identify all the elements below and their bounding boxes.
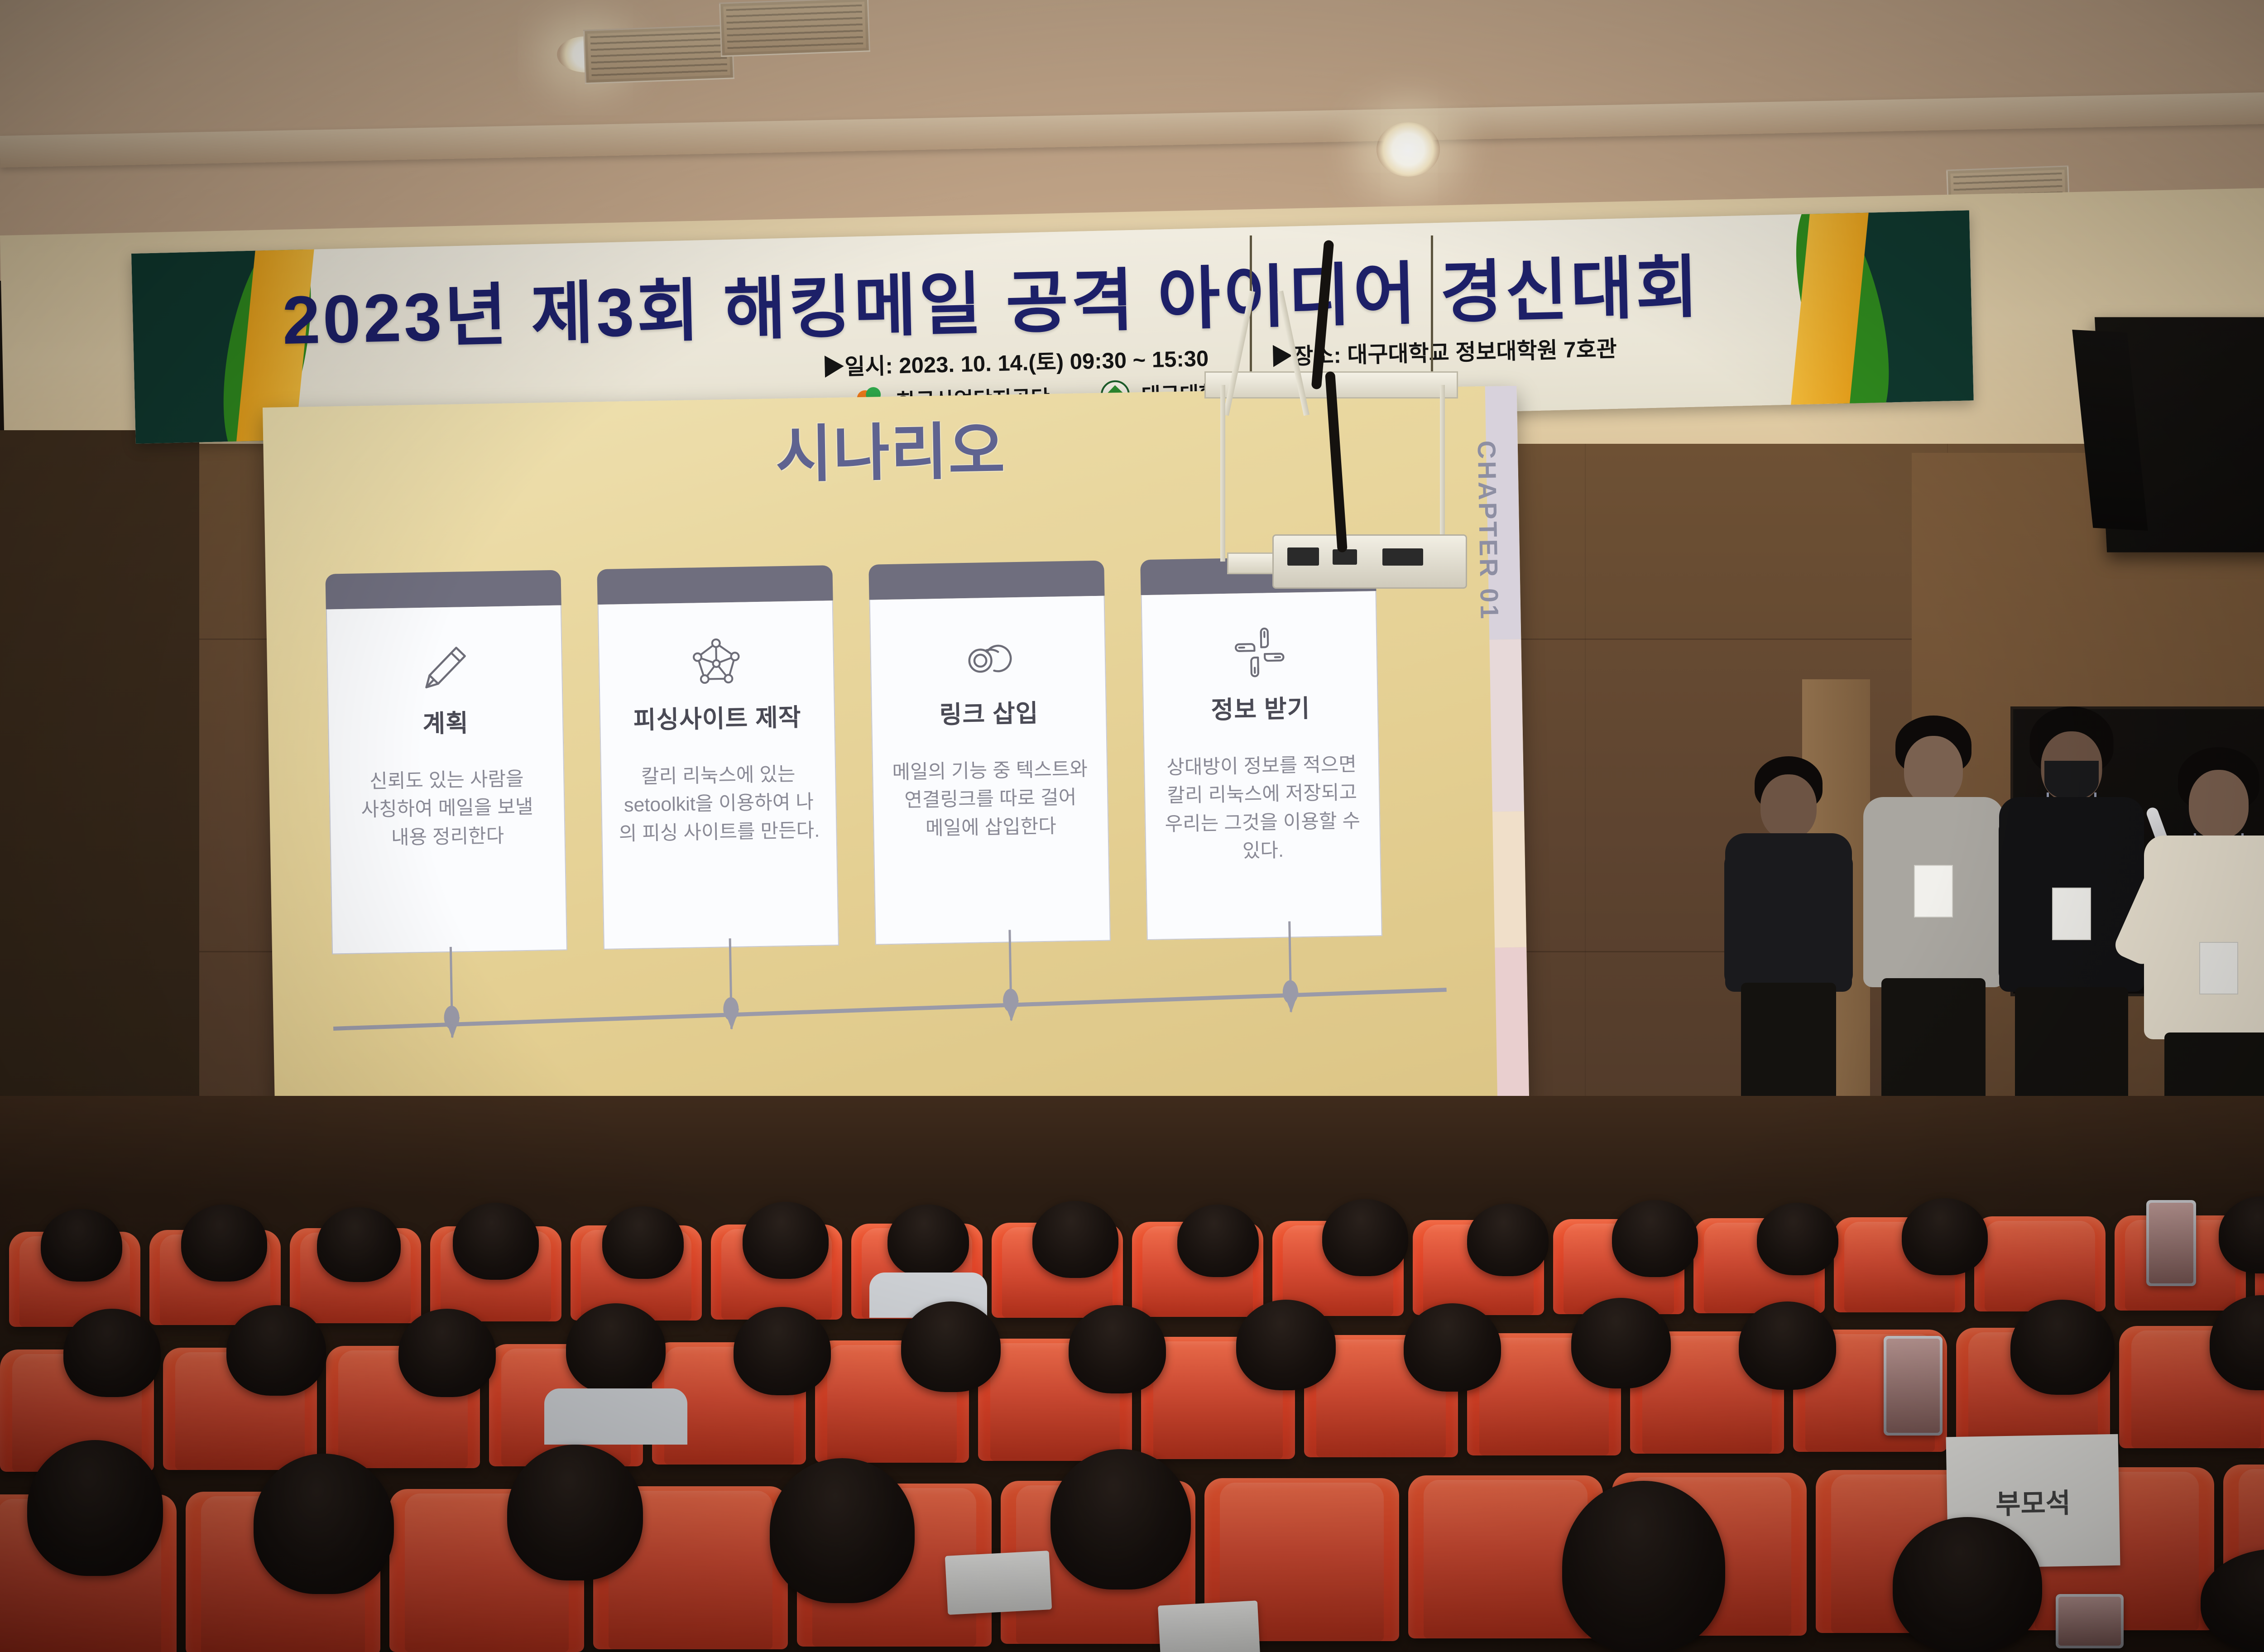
audience-head xyxy=(901,1301,1001,1392)
projector-lift xyxy=(1195,235,1467,607)
audience-head xyxy=(226,1305,326,1396)
card-header-bar xyxy=(597,565,833,605)
audience-head xyxy=(566,1303,666,1394)
audience-head xyxy=(181,1205,267,1282)
projector-cable xyxy=(1311,240,1334,390)
audience-head xyxy=(1739,1301,1836,1390)
audience-head xyxy=(1612,1200,1698,1277)
ceiling-projector xyxy=(1272,534,1467,589)
slide-card: 링크 삽입 메일의 기능 중 텍스트와 연결링크를 따로 걸어 메일에 삽입한다 xyxy=(868,561,1111,945)
card-title: 피싱사이트 제작 xyxy=(615,697,819,736)
ceiling-air-vent xyxy=(583,24,734,84)
audience-head xyxy=(734,1307,831,1395)
pencil-icon xyxy=(343,631,547,702)
audience-head xyxy=(1177,1205,1259,1277)
audience-seating: 부모석 xyxy=(0,1096,2264,1652)
card-body: 링크 삽입 메일의 기능 중 텍스트와 연결링크를 따로 걸어 메일에 삽입한다 xyxy=(869,596,1111,945)
banner-date: ▶일시: 2023. 10. 14.(토) 09:30 ~ 15:30 xyxy=(822,346,1209,380)
laptop xyxy=(945,1551,1052,1615)
name-badge xyxy=(2199,942,2238,994)
auditorium-seat xyxy=(1974,1216,2106,1311)
timeline-node xyxy=(723,997,739,1021)
card-body: 피싱사이트 제작 칼리 리눅스에 있는 setoolkit을 이용하여 나 의 … xyxy=(598,600,839,950)
four-hands-icon xyxy=(1157,617,1362,688)
card-header-bar xyxy=(325,570,561,610)
timeline-arrow xyxy=(450,947,453,1037)
name-badge xyxy=(1914,865,1953,917)
audience-head xyxy=(770,1458,915,1603)
network-star-icon xyxy=(614,626,819,698)
audience-head xyxy=(63,1309,161,1397)
ceiling-air-vent xyxy=(719,0,870,57)
card-title: 계획 xyxy=(344,701,547,741)
card-description: 신뢰도 있는 사람을 사칭하여 메일을 보낼 내용 정리한다 xyxy=(345,764,549,853)
audience-head xyxy=(743,1202,829,1279)
audience-head xyxy=(1571,1298,1671,1388)
linked-circles-icon xyxy=(886,621,1090,693)
audience-head xyxy=(2010,1300,2115,1395)
card-body: 계획 신뢰도 있는 사람을 사칭하여 메일을 보낼 내용 정리한다 xyxy=(326,605,567,955)
audience-head xyxy=(1050,1449,1191,1590)
slide-card: 계획 신뢰도 있는 사람을 사칭하여 메일을 보낼 내용 정리한다 xyxy=(325,570,567,955)
audience-head xyxy=(1562,1481,1725,1652)
audience-head xyxy=(602,1206,684,1279)
slide-title: 시나리오 xyxy=(775,401,1007,494)
timeline-arrow xyxy=(1008,930,1012,1020)
laptop xyxy=(1158,1600,1260,1652)
audience-head xyxy=(1236,1300,1336,1390)
audience-head xyxy=(1893,1517,2042,1652)
audience-head xyxy=(1467,1204,1549,1276)
audience-head xyxy=(254,1454,394,1594)
slide-card: 피싱사이트 제작 칼리 리눅스에 있는 setoolkit을 이용하여 나 의 … xyxy=(597,565,839,950)
audience-head xyxy=(507,1445,643,1580)
slide-timeline xyxy=(332,940,1447,1045)
card-description: 상대방이 정보를 적으면 칼리 리눅스에 저장되고 우리는 그것을 이용할 수 … xyxy=(1160,750,1365,867)
ceiling-downlight xyxy=(1377,122,1440,177)
timeline-node xyxy=(1003,989,1019,1013)
auditorium-photo: 2023년 제3회 해킹메일 공격 아이디어 경신대회 ▶일시: 2023. 1… xyxy=(0,0,2264,1652)
slide-card-row: 계획 신뢰도 있는 사람을 사칭하여 메일을 보낼 내용 정리한다 xyxy=(325,556,1382,954)
audience-head xyxy=(27,1440,163,1576)
timeline-node xyxy=(1282,980,1298,1004)
audience-head xyxy=(398,1309,496,1397)
audience-head xyxy=(1322,1199,1408,1276)
timeline-node xyxy=(444,1006,460,1030)
audience-head xyxy=(887,1205,969,1277)
smartphone[interactable] xyxy=(2056,1594,2124,1648)
audience-head xyxy=(41,1209,122,1282)
audience-head xyxy=(1902,1198,1988,1275)
name-badge xyxy=(2052,888,2091,940)
audience-head xyxy=(317,1207,401,1282)
card-title: 링크 삽입 xyxy=(887,692,1090,731)
smartphone[interactable] xyxy=(1884,1336,1943,1436)
slide-chapter-tag: CHAPTER 01 xyxy=(1472,440,1505,621)
card-title: 정보 받기 xyxy=(1159,687,1362,727)
audience-head xyxy=(1032,1201,1118,1278)
audience-head xyxy=(1757,1203,1838,1275)
audience-head xyxy=(453,1203,539,1280)
timeline-axis xyxy=(333,988,1447,1031)
card-body: 정보 받기 상대방이 정보를 적으면 칼리 리눅스에 저장되고 우리는 그것을 … xyxy=(1141,591,1382,940)
card-description: 칼리 리눅스에 있는 setoolkit을 이용하여 나 의 피싱 사이트를 만… xyxy=(617,760,821,848)
audience-head xyxy=(1404,1303,1501,1392)
card-header-bar xyxy=(868,561,1104,600)
smartphone[interactable] xyxy=(2146,1200,2196,1286)
card-description: 메일의 기능 중 텍스트와 연결링크를 따로 걸어 메일에 삽입한다 xyxy=(888,755,1093,843)
audience-head xyxy=(1069,1305,1166,1393)
slide-card: 정보 받기 상대방이 정보를 적으면 칼리 리눅스에 저장되고 우리는 그것을 … xyxy=(1140,556,1382,940)
timeline-arrow xyxy=(729,938,733,1029)
